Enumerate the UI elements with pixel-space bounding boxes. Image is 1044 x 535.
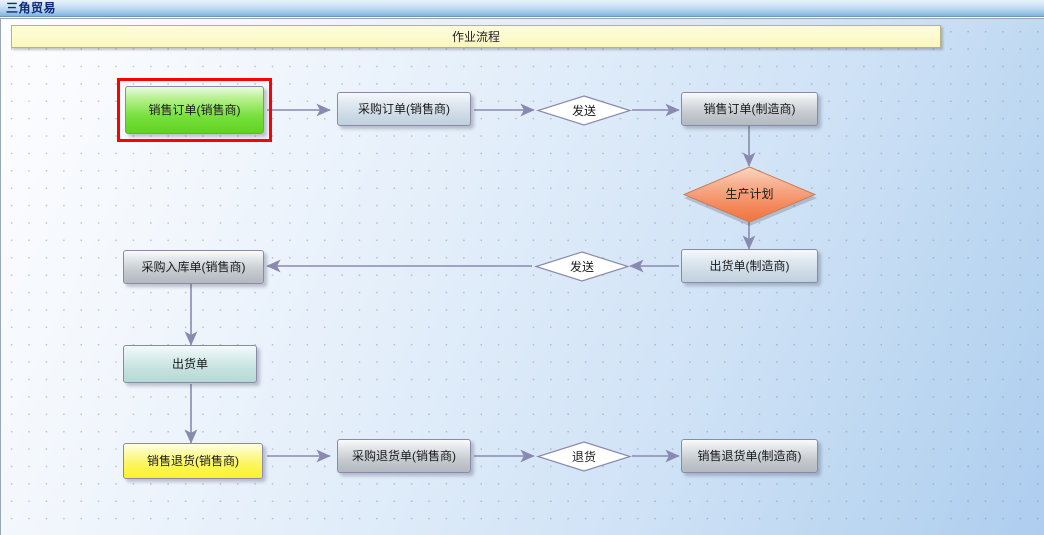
node-sales-order-manufacturer[interactable]: 销售订单(制造商) [681, 92, 818, 126]
node-purchase-return-seller[interactable]: 采购退货单(销售商) [337, 439, 471, 473]
node-purchase-return-seller-label: 采购退货单(销售商) [352, 449, 456, 463]
node-sales-return-seller[interactable]: 销售退货(销售商) [123, 443, 263, 479]
window-titlebar: 三角贸易 [0, 0, 1044, 17]
node-send-2[interactable]: 发送 [534, 250, 630, 283]
process-banner: 作业流程 [11, 25, 941, 48]
node-sales-order-manufacturer-label: 销售订单(制造商) [704, 102, 796, 116]
triangular-trade-window: 三角贸易 作业流程 [0, 0, 1044, 535]
node-purchase-order-seller-label: 采购订单(销售商) [358, 102, 450, 116]
process-banner-label: 作业流程 [12, 29, 940, 45]
node-purchase-order-seller[interactable]: 采购订单(销售商) [337, 92, 471, 126]
node-purchase-receipt-seller[interactable]: 采购入库单(销售商) [123, 250, 264, 284]
node-sales-return-seller-label: 销售退货(销售商) [147, 454, 239, 468]
node-shipping-order-label: 出货单 [172, 357, 208, 371]
node-send-1[interactable]: 发送 [536, 94, 632, 127]
node-production-plan[interactable]: 生产计划 [681, 166, 818, 223]
node-sales-return-manufacturer-label: 销售退货单(制造商) [698, 449, 802, 463]
node-return[interactable]: 退货 [536, 440, 632, 473]
node-purchase-receipt-seller-label: 采购入库单(销售商) [142, 260, 246, 274]
flowchart-canvas[interactable]: 作业流程 [0, 18, 1044, 535]
node-sales-return-manufacturer[interactable]: 销售退货单(制造商) [681, 439, 818, 473]
node-shipping-order[interactable]: 出货单 [123, 345, 257, 383]
node-shipping-order-manufacturer[interactable]: 出货单(制造商) [681, 249, 818, 283]
node-shipping-order-manufacturer-label: 出货单(制造商) [710, 259, 790, 273]
window-title: 三角贸易 [6, 1, 56, 15]
selection-highlight [117, 78, 272, 142]
